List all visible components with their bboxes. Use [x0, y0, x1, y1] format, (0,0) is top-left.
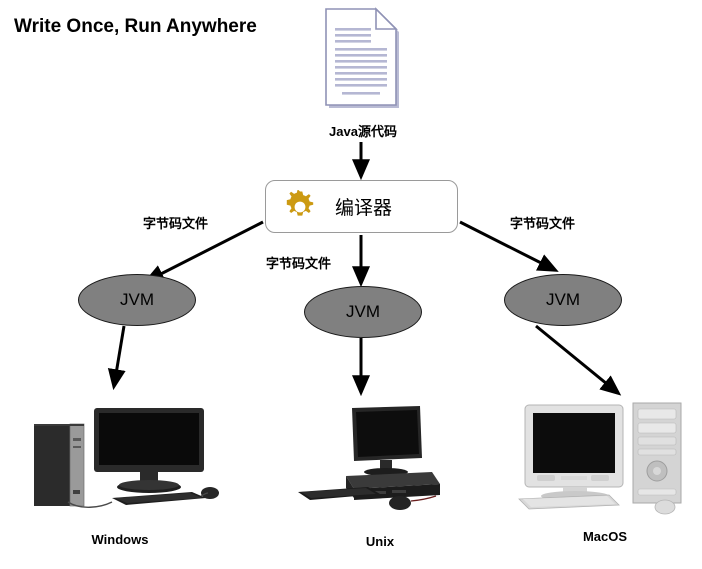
desktop-computer-icon [505, 395, 702, 517]
arrow-jvm-left-to-windows [114, 326, 124, 386]
jvm-node-left[interactable]: JVM [78, 274, 196, 326]
bytecode-label-left: 字节码文件 [143, 213, 208, 232]
diagram-canvas: Write Once, Run Anywhere [0, 0, 702, 569]
page-title: Write Once, Run Anywhere [14, 16, 257, 38]
platform-macos: MacOS [505, 395, 702, 544]
arrow-jvm-right-to-macos [536, 326, 618, 393]
jvm-node-right[interactable]: JVM [504, 274, 622, 326]
platform-windows: Windows [20, 398, 220, 547]
platform-label-windows: Windows [20, 532, 220, 547]
document-icon [320, 6, 404, 112]
compiler-node[interactable]: 编译器 [265, 180, 458, 233]
gear-icon [283, 190, 317, 224]
platform-label-unix: Unix [280, 534, 480, 549]
bytecode-label-center: 字节码文件 [266, 253, 331, 272]
bytecode-label-right: 字节码文件 [510, 213, 575, 232]
desktop-computer-icon [20, 398, 220, 520]
desktop-computer-icon [280, 400, 480, 522]
source-label: Java源代码 [298, 121, 428, 140]
platform-unix: Unix [280, 400, 480, 549]
compiler-label: 编译器 [335, 193, 392, 220]
jvm-node-center[interactable]: JVM [304, 286, 422, 338]
platform-label-macos: MacOS [505, 529, 702, 544]
